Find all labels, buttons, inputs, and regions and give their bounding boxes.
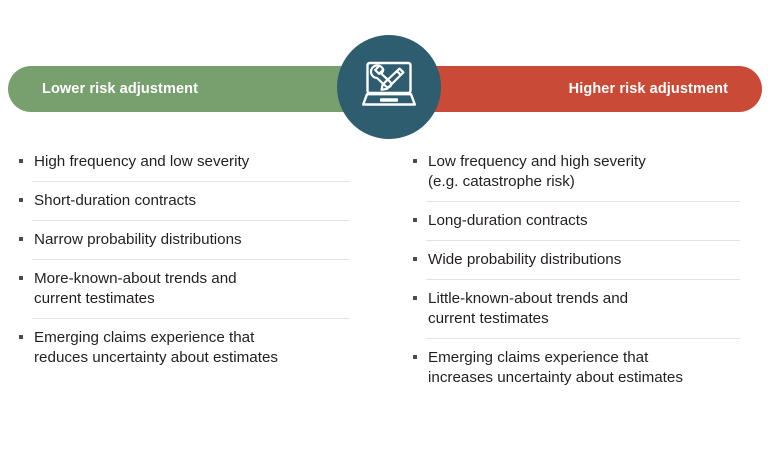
bullet-dot-icon [413, 355, 417, 359]
bullet-dot-icon [413, 296, 417, 300]
laptop-with-tools-icon [358, 60, 420, 114]
list-item-text: Low frequency and high severity (e.g. ca… [428, 152, 740, 192]
bullet-dot-icon [19, 276, 23, 280]
higher-risk-banner: Higher risk adjustment [392, 66, 762, 112]
list-item-text: Narrow probability distributions [34, 230, 350, 250]
list-item: More-known-about trends and current test… [18, 260, 350, 318]
list-item-text: Long-duration contracts [428, 211, 740, 231]
list-item: Low frequency and high severity (e.g. ca… [412, 143, 740, 201]
list-item: Short-duration contracts [18, 182, 350, 220]
list-item-text: High frequency and low severity [34, 152, 350, 172]
higher-risk-bullet-list: Low frequency and high severity (e.g. ca… [412, 143, 740, 397]
higher-risk-banner-label: Higher risk adjustment [569, 81, 728, 97]
bullet-dot-icon [19, 198, 23, 202]
list-item-text: Little-known-about trends and current te… [428, 289, 740, 329]
bullet-dot-icon [413, 218, 417, 222]
lower-risk-banner-label: Lower risk adjustment [42, 81, 198, 97]
list-item: Little-known-about trends and current te… [412, 280, 740, 338]
comparison-columns: High frequency and low severity Short-du… [0, 143, 770, 433]
list-item-text: Wide probability distributions [428, 250, 740, 270]
list-item: Emerging claims experience that reduces … [18, 319, 350, 377]
risk-adjustment-comparison-diagram: Lower risk adjustment Higher risk adjust… [0, 0, 770, 450]
list-item: Emerging claims experience that increase… [412, 339, 740, 397]
list-item: Narrow probability distributions [18, 221, 350, 259]
bullet-dot-icon [413, 159, 417, 163]
bullet-dot-icon [19, 335, 23, 339]
list-item: Long-duration contracts [412, 202, 740, 240]
list-item-text: More-known-about trends and current test… [34, 269, 350, 309]
list-item-text: Short-duration contracts [34, 191, 350, 211]
list-item: Wide probability distributions [412, 241, 740, 279]
bullet-dot-icon [413, 257, 417, 261]
lower-risk-bullet-list: High frequency and low severity Short-du… [18, 143, 350, 377]
center-badge [337, 35, 441, 139]
list-item-text: Emerging claims experience that reduces … [34, 328, 350, 368]
lower-risk-banner: Lower risk adjustment [8, 66, 378, 112]
bullet-dot-icon [19, 237, 23, 241]
list-item: High frequency and low severity [18, 143, 350, 181]
lower-risk-column: High frequency and low severity Short-du… [0, 143, 385, 433]
higher-risk-column: Low frequency and high severity (e.g. ca… [385, 143, 770, 433]
bullet-dot-icon [19, 159, 23, 163]
list-item-text: Emerging claims experience that increase… [428, 348, 740, 388]
